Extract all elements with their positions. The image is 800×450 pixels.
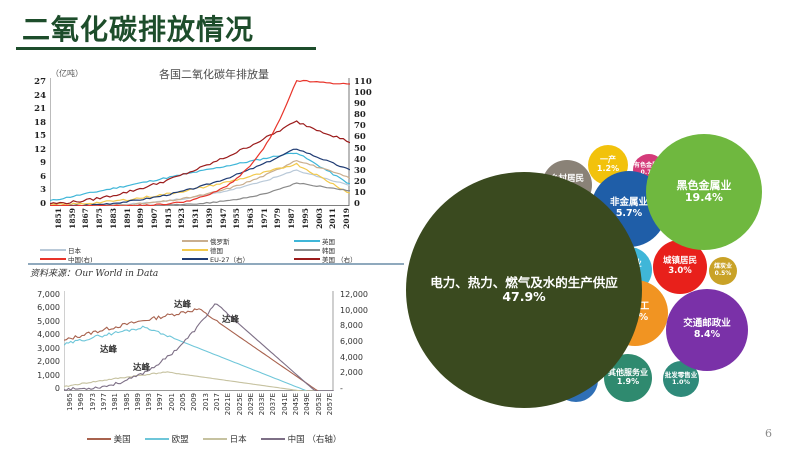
- chart2-ytick-right: 2,000: [340, 369, 363, 377]
- chart2-y-axis-right: -2,0004,0006,0008,00010,00012,000: [340, 285, 386, 397]
- chart1-legend-swatch: [182, 258, 208, 260]
- chart1-legend-swatch: [182, 240, 208, 242]
- chart2-legend-label: 美国: [114, 433, 131, 445]
- chart1-ytick-left: 9: [40, 159, 46, 168]
- chart2-xtick: 2053E: [315, 393, 323, 415]
- chart2-legend-label: 日本: [230, 433, 247, 445]
- chart1-legend-swatch: [294, 240, 320, 242]
- chart1-xtick: 1971: [260, 208, 269, 229]
- chart1-ytick-right: 40: [354, 156, 366, 165]
- chart2-ytick-left: 4,000: [37, 331, 60, 339]
- chart1-xtick: 1899: [136, 208, 145, 229]
- chart1-xtick: 1923: [177, 208, 186, 229]
- chart1-legend-swatch: [182, 249, 208, 251]
- chart2-xtick: 2029E: [247, 393, 255, 415]
- chart2-ytick-right: -: [340, 385, 343, 393]
- chart1-line-美国 （右）: [50, 121, 350, 204]
- bubble-label: 电力、热力、燃气及水的生产供应: [430, 276, 618, 290]
- chart1-ytick-right: 20: [354, 178, 366, 187]
- chart2-ytick-left: 6,000: [37, 304, 60, 312]
- chart1-xtick: 1907: [150, 208, 159, 229]
- bubble-value: 5.7%: [616, 209, 642, 220]
- chart2-xtick: 2009: [190, 393, 198, 411]
- bubble-value: 0.5%: [715, 271, 732, 278]
- chart1-xtick: 2019: [342, 208, 351, 229]
- chart2-legend-swatch: [145, 438, 169, 440]
- title-underline: [16, 47, 316, 50]
- chart2-xtick: 2037E: [269, 393, 277, 415]
- chart1-xtick: 2003: [315, 208, 324, 229]
- chart1-xtick: 1987: [287, 208, 296, 229]
- chart1-x-axis: 1851185918671875188318911899190719151923…: [50, 208, 350, 238]
- chart2-legend-swatch: [203, 438, 227, 440]
- chart1-xtick: 1931: [191, 208, 200, 229]
- chart2-plot-area: [64, 291, 334, 391]
- chart2-ytick-right: 6,000: [340, 338, 363, 346]
- chart2-annotation-peak-4: 达峰: [174, 298, 191, 310]
- chart1-line-日本: [50, 170, 350, 206]
- chart2-ytick-left: 1,000: [37, 372, 60, 380]
- chart1-line-英国: [50, 153, 350, 200]
- chart1-legend-swatch: [40, 258, 66, 260]
- chart1-xtick: 1883: [109, 208, 118, 229]
- chart2-legend-item: 日本: [203, 433, 247, 445]
- chart2-ytick-right: 12,000: [340, 291, 368, 299]
- bubble-3[interactable]: 交通邮政业8.4%: [666, 289, 748, 371]
- chart1-legend-swatch: [294, 258, 320, 260]
- chart2-xtick: 1977: [100, 393, 108, 411]
- chart2-line-欧盟: [64, 326, 334, 391]
- left-charts-column: （亿吨） 各国二氧化碳年排放量 0369121518212427 0102030…: [14, 60, 404, 445]
- chart1-ytick-left: 18: [34, 119, 46, 128]
- chart2-legend-item: 美国: [87, 433, 131, 445]
- chart2-legend-item: 欧盟: [145, 433, 189, 445]
- chart1-xtick: 1867: [81, 208, 90, 229]
- chart2-legend-swatch: [261, 438, 285, 440]
- chart2-xtick: 1969: [77, 393, 85, 411]
- chart1-y-axis-left: 0369121518212427: [20, 72, 46, 206]
- bubble-value: 1.9%: [617, 378, 639, 387]
- chart1-ytick-left: 21: [34, 105, 46, 114]
- chart2-xtick: 2025E: [236, 393, 244, 415]
- chart2-y-axis-left: 01,0002,0003,0004,0005,0006,0007,000: [14, 285, 60, 397]
- chart1-xtick: 1859: [68, 208, 77, 229]
- chart1-ytick-left: 24: [34, 92, 46, 101]
- bubble-value: 3.0%: [668, 267, 692, 277]
- page-number: 6: [765, 427, 772, 440]
- chart2-ytick-left: 5,000: [37, 318, 60, 326]
- chart1-xtick: 1851: [54, 208, 63, 229]
- chart1-ytick-right: 100: [354, 89, 372, 98]
- chart2-xtick: 1985: [123, 393, 131, 411]
- chart1-ytick-right: 70: [354, 122, 366, 131]
- chart1-xtick: 1995: [301, 208, 310, 229]
- chart1-xtick: 1955: [232, 208, 241, 229]
- chart1-ytick-left: 6: [40, 173, 46, 182]
- chart1-ytick-right: 90: [354, 100, 366, 109]
- chart2-xtick: 1989: [134, 393, 142, 411]
- chart2-ytick-right: 10,000: [340, 307, 368, 315]
- source-divider: [28, 263, 404, 265]
- chart1-ytick-right: 110: [354, 78, 372, 87]
- chart2-ytick-right: 4,000: [340, 354, 363, 362]
- chart1-xtick: 1891: [123, 208, 132, 229]
- chart2-xtick: 2045E: [292, 393, 300, 415]
- chart1-xtick: 1939: [205, 208, 214, 229]
- chart1-plot-area: [50, 78, 350, 206]
- bubble-2[interactable]: 黑色金属业19.4%: [646, 134, 762, 250]
- chart-annual-co2-by-country: （亿吨） 各国二氧化碳年排放量 0369121518212427 0102030…: [14, 60, 404, 275]
- chart2-xtick: 2049E: [303, 393, 311, 415]
- chart1-ytick-left: 3: [40, 186, 46, 195]
- chart2-annotation-peak-1: 达峰: [100, 343, 117, 355]
- chart1-xtick: 2011: [328, 208, 337, 229]
- chart2-ytick-left: 0: [55, 385, 60, 393]
- chart-peak-carbon-paths: 01,0002,0003,0004,0005,0006,0007,000 -2,…: [14, 285, 404, 445]
- chart1-xtick: 1979: [273, 208, 282, 229]
- chart1-ytick-right: 10: [354, 189, 366, 198]
- bubble-value: 1.0%: [672, 379, 690, 386]
- chart1-ytick-right: 50: [354, 145, 366, 154]
- chart1-legend-swatch: [294, 249, 320, 251]
- bubble-value: 47.9%: [502, 290, 545, 304]
- chart-emission-share-by-sector: 电力、热力、燃气及水的生产供应47.9%黑色金属业19.4%交通邮政业8.4%非…: [404, 130, 796, 420]
- chart2-xtick: 2057E: [326, 393, 334, 415]
- chart1-xtick: 1963: [246, 208, 255, 229]
- chart1-ytick-right: 80: [354, 111, 366, 120]
- chart2-legend-item: 中国 （右轴）: [261, 433, 342, 445]
- chart2-ytick-left: 2,000: [37, 358, 60, 366]
- chart2-xtick: 1973: [89, 393, 97, 411]
- chart1-ytick-right: 0: [354, 200, 360, 209]
- page-title: 二氧化碳排放情况: [22, 8, 254, 48]
- chart2-ytick-left: 3,000: [37, 345, 60, 353]
- chart1-ytick-right: 30: [354, 167, 366, 176]
- chart2-xtick: 2033E: [258, 393, 266, 415]
- chart1-y-axis-right: 0102030405060708090100110: [354, 72, 388, 206]
- chart1-ytick-left: 12: [34, 146, 46, 155]
- chart2-xtick: 2017: [213, 393, 221, 411]
- chart2-xtick: 2041E: [281, 393, 289, 415]
- chart1-xtick: 1875: [95, 208, 104, 229]
- chart1-xtick: 1915: [164, 208, 173, 229]
- chart2-legend-label: 欧盟: [172, 433, 189, 445]
- chart1-ytick-left: 15: [34, 132, 46, 141]
- chart2-annotation-peak-2: 达峰: [222, 313, 239, 325]
- chart2-xtick: 2013: [202, 393, 210, 411]
- chart1-legend-swatch: [40, 249, 66, 251]
- chart2-xtick: 2001: [168, 393, 176, 411]
- chart2-xtick: 1965: [66, 393, 74, 411]
- chart2-xtick: 2021E: [224, 393, 232, 415]
- chart2-xtick: 2005: [179, 393, 187, 411]
- bubble-1[interactable]: 电力、热力、燃气及水的生产供应47.9%: [406, 172, 642, 408]
- chart1-ytick-left: 0: [40, 200, 46, 209]
- chart2-x-axis: 1965196919731977198119851989199319972001…: [64, 393, 334, 429]
- chart2-annotation-peak-3: 达峰: [133, 361, 150, 373]
- bubble-value: 8.4%: [694, 330, 720, 341]
- chart2-legend-label: 中国 （右轴）: [288, 433, 342, 445]
- bubble-value: 19.4%: [685, 192, 723, 204]
- chart1-ytick-left: 27: [34, 78, 46, 87]
- chart1-ytick-right: 60: [354, 133, 366, 142]
- bubble-15[interactable]: 煤炭业0.5%: [709, 257, 737, 285]
- chart1-xtick: 1947: [219, 208, 228, 229]
- chart2-legend-swatch: [87, 438, 111, 440]
- chart1-legend: 日本中国(右)俄罗斯德国EU-27（右）英国韩国美国 （右）: [32, 236, 397, 262]
- chart2-ytick-right: 8,000: [340, 322, 363, 330]
- chart1-source: 资料来源：Our World in Data: [30, 266, 158, 279]
- chart2-xtick: 1993: [145, 393, 153, 411]
- chart2-xtick: 1981: [111, 393, 119, 411]
- chart2-xtick: 1997: [156, 393, 164, 411]
- chart2-ytick-left: 7,000: [37, 291, 60, 299]
- chart2-legend: 美国欧盟日本中国 （右轴）: [44, 433, 384, 445]
